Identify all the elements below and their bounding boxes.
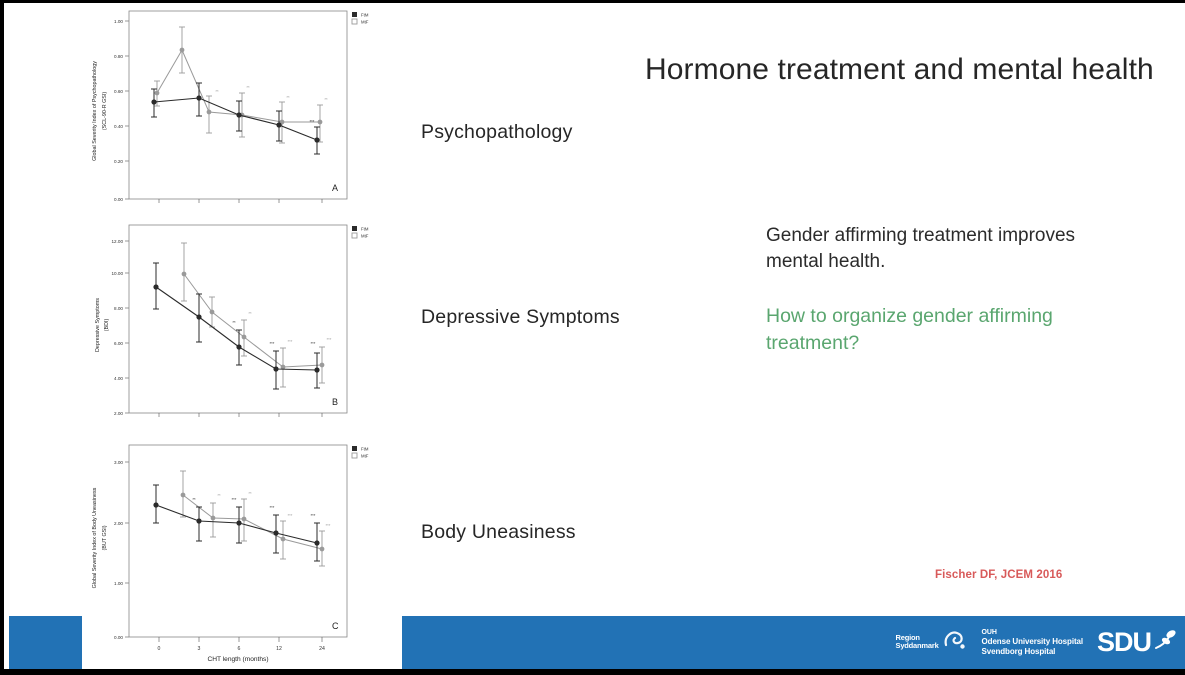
panel-c-yticks: 3.00 2.00 1.00 0.00 [114,460,123,640]
panel-a-series-mtf: **** **** [154,27,328,143]
question-statement-text: How to organize gender affirming treatme… [766,303,1096,357]
chart-panel-a-psychopathology: Global Severity Index of Psychopathology… [82,5,402,217]
svg-text:MtF: MtF [361,20,369,25]
svg-text:***: *** [270,505,275,510]
svg-text:***: *** [311,513,316,518]
sdu-leaf-icon [1153,628,1177,656]
panel-b-series-mtf: ******** [181,243,332,387]
panel-b-series-ftm: ******** [153,263,320,389]
panel-a-ylabel: Global Severity Index of Psychopathology [92,61,98,161]
panel-a-series-ftm: *** [151,83,320,154]
panel-c-ytick-marks [125,462,129,637]
svg-text:0.00: 0.00 [114,635,123,640]
svg-text:***: *** [311,341,316,346]
chart-panel-b-depressive-symptoms: Depressive Symptoms (BDI) 12.00 10.00 8.… [82,217,402,433]
panel-b-ylabel-sub: (BDI) [104,319,110,332]
svg-text:***: *** [232,497,237,502]
svg-text:0.80: 0.80 [114,54,123,59]
svg-text:0.40: 0.40 [114,124,123,129]
svg-text:**: ** [286,95,290,100]
panel-a-plot-frame [129,11,347,199]
chart-panel-c-body-uneasiness: Global Severity Index of Body Uneasiness… [82,433,402,672]
panel-b-plot-frame [129,225,347,413]
svg-text:1.00: 1.00 [114,581,123,586]
svg-text:FtM: FtM [361,13,369,18]
svg-text:***: *** [310,119,315,124]
ouh-logo-line0: OUH [982,628,1083,638]
svg-text:***: *** [327,337,332,342]
panel-c-legend: FtM MtF [352,446,369,459]
svg-text:2.00: 2.00 [114,521,123,526]
panel-a-yticks: 1.00 0.80 0.60 0.40 0.20 0.00 [114,19,123,202]
svg-text:***: *** [270,341,275,346]
svg-text:**: ** [217,493,221,498]
svg-text:12.00: 12.00 [112,239,124,244]
ouh-logo-line1: Odense University Hospital [982,637,1083,647]
svg-text:10.00: 10.00 [112,271,124,276]
svg-text:6: 6 [238,646,241,652]
region-swirl-icon [942,629,968,655]
panel-c-plot-frame [129,445,347,637]
svg-text:4.00: 4.00 [114,376,123,381]
svg-text:**: ** [324,97,328,102]
region-syddanmark-logo: Region Syddanmark [896,629,968,655]
svg-text:**: ** [248,491,252,496]
svg-text:***: *** [288,339,293,344]
svg-text:FtM: FtM [361,447,369,452]
svg-text:2.00: 2.00 [114,411,123,416]
svg-text:FtM: FtM [361,227,369,232]
panel-a-ytick-marks [125,21,129,199]
panel-c-series-ftm: ***** ****** [153,485,320,561]
panel-a-ylabel-sub: (SCL-90-R GSI) [102,92,108,131]
svg-text:***: *** [326,523,331,528]
panel-c-ylabel: Global Severity Index of Body Uneasiness [92,487,98,588]
citation-reference: Fischer DF, JCEM 2016 [935,569,1062,581]
svg-text:**: ** [246,85,250,90]
panel-a-svg: Global Severity Index of Psychopathology… [82,5,402,217]
svg-text:8.00: 8.00 [114,306,123,311]
panel-c-svg: Global Severity Index of Body Uneasiness… [82,433,402,672]
panel-b-ylabel: Depressive Symptoms [95,298,101,352]
panel-c-tag: C [332,621,339,631]
panel-b-tag: B [332,397,338,407]
label-psychopathology: Psychopathology [421,121,573,144]
panel-c-xlabel: CHT length (months) [207,656,268,663]
svg-text:MtF: MtF [361,454,369,459]
svg-text:12: 12 [276,646,282,652]
region-logo-line2: Syddanmark [896,642,939,651]
svg-text:0.00: 0.00 [114,197,123,202]
svg-text:0.20: 0.20 [114,159,123,164]
presentation-slide: Region Syddanmark OUH Odense University … [0,0,1185,675]
panel-b-legend: FtM MtF [352,226,369,239]
panel-c-ylabel-sub: (BUT GSI) [102,525,108,550]
svg-text:6.00: 6.00 [114,341,123,346]
svg-text:3: 3 [198,646,201,652]
panel-b-svg: Depressive Symptoms (BDI) 12.00 10.00 8.… [82,217,402,433]
panel-a-xtick-marks [159,199,322,203]
footer-bar-left [9,616,84,669]
svg-text:1.00: 1.00 [114,19,123,24]
svg-text:0: 0 [158,646,161,652]
body-statement-text: Gender affirming treatment improves ment… [766,223,1126,275]
panel-c-xticklabels: 0 3 6 12 24 [158,646,325,652]
svg-text:**: ** [232,320,236,325]
ouh-logo: OUH Odense University Hospital Svendborg… [982,628,1083,657]
svg-text:**: ** [248,311,252,316]
svg-text:3.00: 3.00 [114,460,123,465]
panel-b-ytick-marks [125,241,129,413]
svg-text:24: 24 [319,646,325,652]
label-depressive-symptoms: Depressive Symptoms [421,306,620,329]
svg-text:***: *** [288,513,293,518]
footer-logo-group: Region Syddanmark OUH Odense University … [896,619,1177,665]
sdu-logo: SDU [1097,628,1177,656]
svg-text:**: ** [215,89,219,94]
svg-text:MtF: MtF [361,234,369,239]
panel-c-series-mtf: **** ****** [180,471,331,566]
panel-c-xtick-marks [159,637,322,642]
footer-bar-right: Region Syddanmark OUH Odense University … [402,616,1185,669]
panel-b-yticks: 12.00 10.00 8.00 6.00 4.00 2.00 [112,239,124,416]
sdu-logo-text: SDU [1097,629,1151,656]
ouh-logo-line2: Svendborg Hospital [982,647,1083,657]
figure-three-panel-chart: Global Severity Index of Psychopathology… [82,3,402,672]
slide-title: Hormone treatment and mental health [645,53,1175,87]
panel-a-tag: A [332,183,338,193]
svg-text:**: ** [192,497,196,502]
svg-text:0.60: 0.60 [114,89,123,94]
label-body-uneasiness: Body Uneasiness [421,521,576,544]
panel-b-xtick-marks [159,413,322,417]
panel-a-legend: FtM MtF [352,12,369,25]
